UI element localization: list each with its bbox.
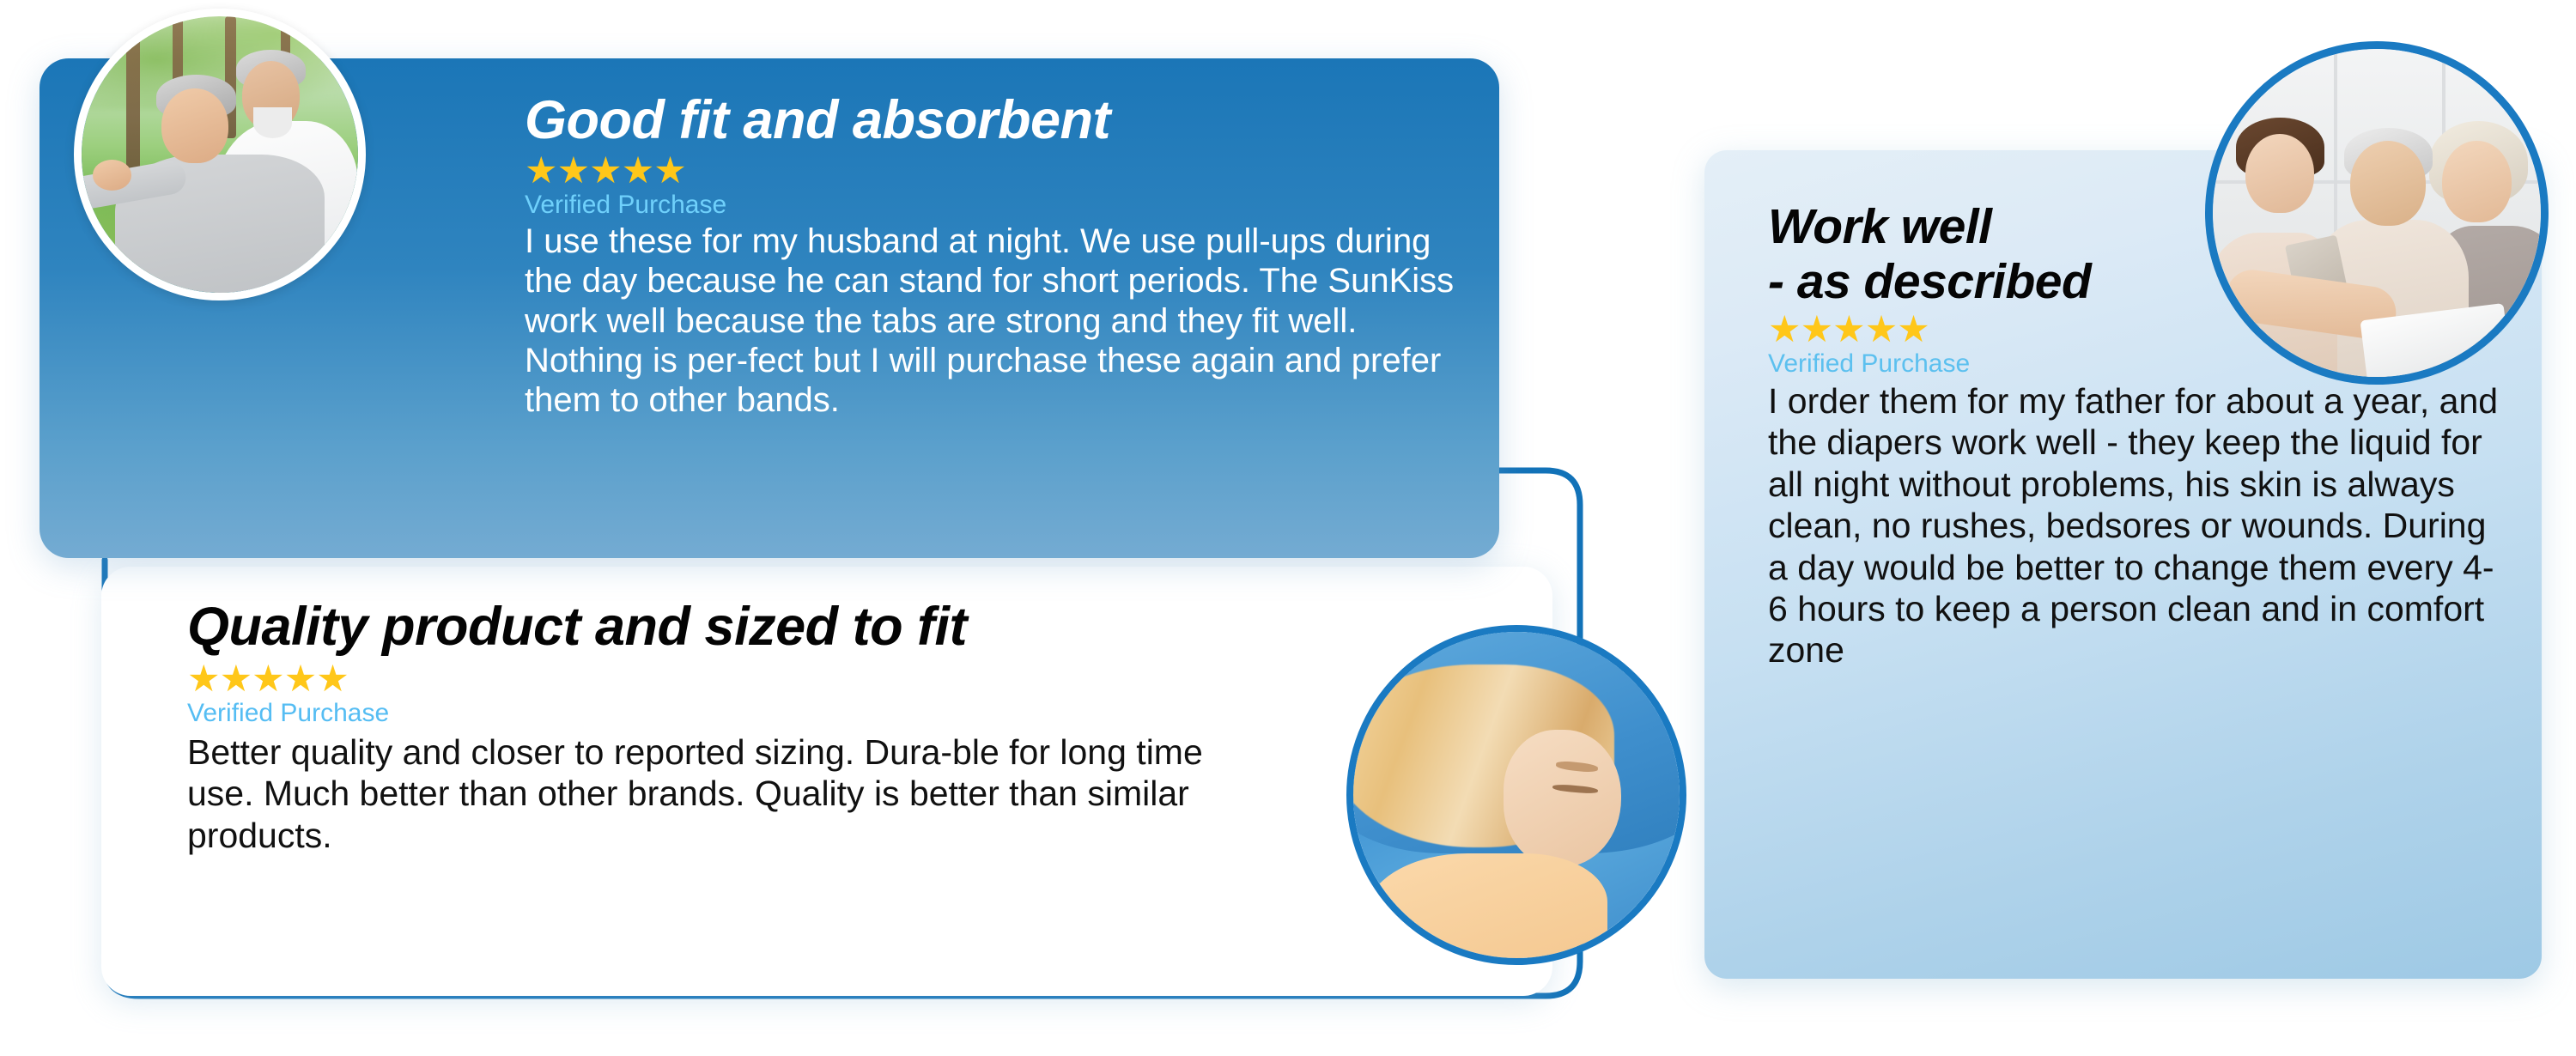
review-text: I order them for my father for about a y… — [1768, 380, 2507, 671]
star-rating: ★★★★★ — [187, 661, 1518, 698]
star-icon: ★ — [1865, 312, 1898, 349]
review-title: Quality product and sized to fit — [187, 599, 1518, 656]
star-icon: ★ — [1832, 312, 1865, 349]
review-card-body: Quality product and sized to fit ★★★★★ V… — [187, 599, 1518, 856]
star-rating: ★★★★★ — [525, 153, 1458, 190]
star-icon: ★ — [252, 661, 284, 698]
review-text: I use these for my husband at night. We … — [525, 222, 1458, 421]
review-card-quality-product[interactable]: Quality product and sized to fit ★★★★★ V… — [101, 567, 1552, 996]
star-icon: ★ — [622, 153, 654, 190]
review-card-body: Good fit and absorbent ★★★★★ Verified Pu… — [525, 93, 1458, 421]
star-icon: ★ — [1768, 312, 1801, 349]
reviewer-avatar-senior-couple — [74, 9, 366, 300]
review-text: Better quality and closer to reported si… — [187, 731, 1213, 856]
star-icon: ★ — [1801, 312, 1833, 349]
star-icon: ★ — [187, 661, 220, 698]
star-icon: ★ — [1897, 312, 1929, 349]
avatar-photo — [2213, 49, 2541, 377]
star-icon: ★ — [316, 661, 349, 698]
star-icon: ★ — [589, 153, 622, 190]
review-collage: Good fit and absorbent ★★★★★ Verified Pu… — [0, 0, 2576, 1056]
star-icon: ★ — [284, 661, 317, 698]
reviewer-avatar-family-laptop — [2205, 41, 2549, 385]
star-icon: ★ — [557, 153, 590, 190]
photo-family-scene — [2213, 49, 2541, 377]
photo-park-scene — [82, 16, 358, 293]
avatar-photo — [82, 16, 358, 293]
verified-purchase-badge: Verified Purchase — [525, 190, 1458, 220]
star-icon: ★ — [653, 153, 686, 190]
photo-sleeping-scene — [1353, 632, 1680, 958]
avatar-photo — [1353, 632, 1680, 958]
star-icon: ★ — [525, 153, 557, 190]
review-title: Good fit and absorbent — [525, 93, 1458, 149]
verified-purchase-badge: Verified Purchase — [187, 698, 1518, 728]
star-icon: ★ — [220, 661, 252, 698]
review-title-line-1: Work well — [1768, 199, 1992, 254]
reviewer-avatar-sleeping-woman — [1346, 625, 1686, 965]
